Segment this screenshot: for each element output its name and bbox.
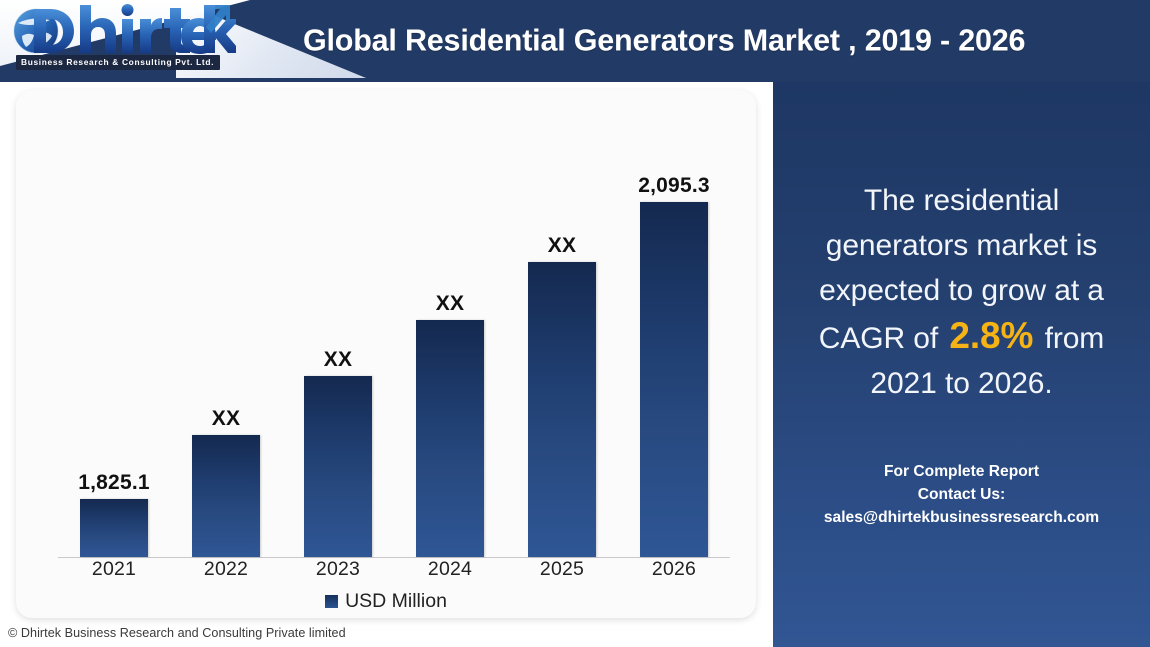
x-axis-tick-2022: 2022 bbox=[170, 558, 282, 581]
bar-2025[interactable] bbox=[528, 262, 596, 557]
callout-line-4: CAGR of 2.8% from bbox=[787, 313, 1136, 361]
contact-line-1: For Complete Report bbox=[787, 460, 1136, 483]
bar-value-label: 1,825.1 bbox=[58, 471, 170, 495]
contact-block: For Complete Report Contact Us: sales@dh… bbox=[787, 460, 1136, 529]
chart-plot-area: 1,825.1 XX XX XX XX bbox=[38, 108, 736, 558]
bar-2022[interactable] bbox=[192, 435, 260, 557]
bar-2026[interactable] bbox=[640, 202, 708, 557]
legend-label: USD Million bbox=[345, 590, 447, 613]
bar-slot-2021: 1,825.1 bbox=[58, 108, 170, 557]
company-logo[interactable]: Business Research & Consulting Pvt. Ltd. bbox=[6, 2, 236, 74]
bar-slot-2022: XX bbox=[170, 108, 282, 557]
logo-tagline: Business Research & Consulting Pvt. Ltd. bbox=[16, 55, 220, 70]
callout-line-3: expected to grow at a bbox=[787, 268, 1136, 313]
bar-slot-2023: XX bbox=[282, 108, 394, 557]
bar-value-label: 2,095.3 bbox=[618, 174, 730, 198]
bar-value-label: XX bbox=[170, 407, 282, 431]
x-axis-tick-2021: 2021 bbox=[58, 558, 170, 581]
bar-value-label: XX bbox=[394, 292, 506, 316]
contact-email[interactable]: sales@dhirtekbusinessresearch.com bbox=[787, 506, 1136, 529]
x-axis-tick-2023: 2023 bbox=[282, 558, 394, 581]
footer-copyright: © Dhirtek Business Research and Consulti… bbox=[8, 626, 346, 640]
contact-line-2: Contact Us: bbox=[787, 483, 1136, 506]
x-axis-labels: 2021 2022 2023 2024 2025 2026 bbox=[58, 558, 730, 581]
x-axis-tick-2025: 2025 bbox=[506, 558, 618, 581]
callout-line-2: generators market is bbox=[787, 223, 1136, 268]
x-axis-tick-2024: 2024 bbox=[394, 558, 506, 581]
bar-slot-2024: XX bbox=[394, 108, 506, 557]
legend-swatch-icon bbox=[325, 595, 338, 608]
cagr-suffix: from bbox=[1045, 322, 1105, 355]
market-callout-text: The residential generators market is exp… bbox=[787, 178, 1136, 406]
callout-line-5: 2021 to 2026. bbox=[787, 361, 1136, 406]
infographic-root: Global Residential Generators Market , 2… bbox=[0, 0, 1150, 647]
bar-value-label: XX bbox=[506, 234, 618, 258]
logo-brand-text bbox=[34, 4, 236, 54]
callout-line-1: The residential bbox=[787, 178, 1136, 223]
cagr-value: 2.8% bbox=[946, 315, 1036, 356]
page-title: Global Residential Generators Market , 2… bbox=[303, 24, 1025, 59]
bar-2023[interactable] bbox=[304, 376, 372, 557]
right-info-panel: The residential generators market is exp… bbox=[773, 82, 1150, 647]
bar-slot-2026: 2,095.3 bbox=[618, 108, 730, 557]
bar-2024[interactable] bbox=[416, 320, 484, 557]
bar-value-label: XX bbox=[282, 348, 394, 372]
chart-legend: USD Million bbox=[16, 590, 756, 613]
bar-group: 1,825.1 XX XX XX XX bbox=[58, 108, 730, 557]
bar-slot-2025: XX bbox=[506, 108, 618, 557]
chart-card: 1,825.1 XX XX XX XX bbox=[16, 90, 756, 618]
bar-2021[interactable] bbox=[80, 499, 148, 557]
x-axis-tick-2026: 2026 bbox=[618, 558, 730, 581]
logo-wordmark-svg bbox=[10, 3, 236, 55]
cagr-prefix: CAGR of bbox=[819, 322, 938, 355]
